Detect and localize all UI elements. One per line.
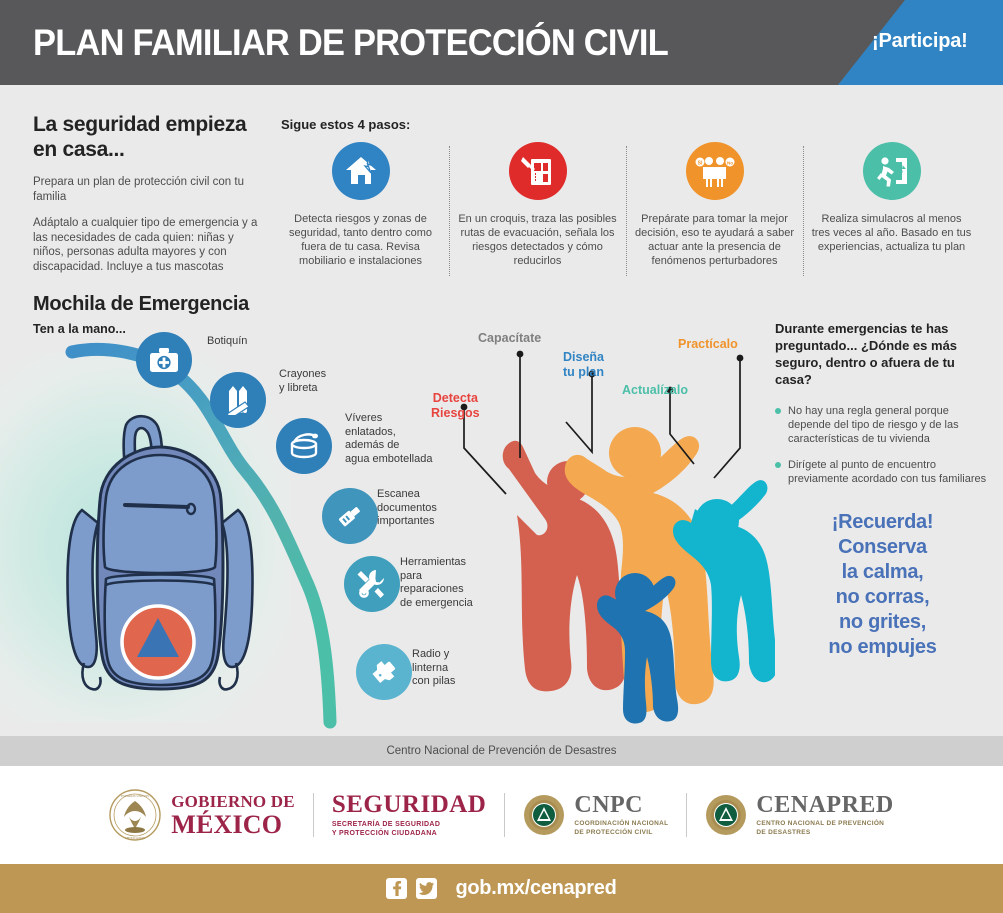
floorplan-pencil-icon	[509, 142, 567, 200]
intro-block: La seguridad empieza en casa... Prepara …	[33, 112, 265, 274]
header-banner: PLAN FAMILIAR DE PROTECCIÓN CIVIL ¡Parti…	[0, 0, 1003, 85]
emergency-bullet-1: No hay una regla general porque depende …	[775, 404, 990, 446]
twitter-icon[interactable]	[416, 878, 437, 899]
seguridad-logo: SEGURIDAD SECRETARÍA DE SEGURIDAD Y PROT…	[314, 786, 505, 844]
cenapred-logo: CENAPRED CENTRO NACIONAL DE PREVENCIÓN D…	[687, 786, 911, 844]
emergency-question-title: Durante emergencias te has preguntado...…	[775, 320, 990, 388]
step-3-text: Prepárate para tomar la mejor decisión, …	[635, 212, 795, 268]
svg-text:MEXICANOS: MEXICANOS	[125, 836, 145, 840]
cenapred-subtitle-1: CENTRO NACIONAL DE PREVENCIÓN	[756, 820, 893, 829]
seguridad-title: SEGURIDAD	[332, 792, 487, 818]
intro-title: La seguridad empieza en casa...	[33, 112, 265, 162]
step-4: Realiza simulacros al menos tres veces a…	[803, 142, 980, 287]
canned-food-icon	[276, 418, 332, 474]
step-1: Detecta riesgos y zonas de seguridad, ta…	[272, 142, 449, 287]
steps-section-title: Sigue estos 4 pasos:	[281, 117, 410, 132]
seguridad-subtitle-2: Y PROTECCIÓN CIUDADANA	[332, 829, 487, 838]
mochila-item-label-1: Botiquín	[207, 335, 247, 349]
crayons-notebook-icon	[210, 372, 266, 428]
facebook-icon[interactable]	[386, 878, 407, 899]
callout-disena-tu-plan: Diseña tu plan	[563, 350, 604, 380]
emergency-bullet-2: Dirígete al punto de encuentro previamen…	[775, 458, 990, 486]
cenapred-emblem-icon	[705, 794, 747, 836]
svg-text:SI: SI	[697, 161, 702, 167]
seguridad-subtitle-1: SECRETARÍA DE SEGURIDAD	[332, 820, 487, 829]
gobierno-line-1: GOBIERNO DE	[171, 793, 295, 811]
infographic-page: PLAN FAMILIAR DE PROTECCIÓN CIVIL ¡Parti…	[0, 0, 1003, 913]
svg-text:ESTADOS UNIDOS: ESTADOS UNIDOS	[121, 794, 149, 798]
flashlight-icon	[356, 644, 412, 700]
tools-icon	[344, 556, 400, 612]
step-3: SI No Prepárate para tomar la mejor deci…	[626, 142, 803, 287]
intro-paragraph-2: Adáptalo a cualquier tipo de emergencia …	[33, 216, 265, 274]
footer-logos: ESTADOS UNIDOS MEXICANOS GOBIERNO DE MÉX…	[0, 766, 1003, 864]
gobierno-line-2: MÉXICO	[171, 811, 295, 838]
mochila-title: Mochila de Emergencia	[33, 293, 249, 316]
step-4-text: Realiza simulacros al menos tres veces a…	[812, 212, 972, 254]
page-title: PLAN FAMILIAR DE PROTECCIÓN CIVIL	[33, 20, 768, 66]
mexico-seal-icon: ESTADOS UNIDOS MEXICANOS	[109, 789, 161, 841]
gobierno-de-mexico-logo: ESTADOS UNIDOS MEXICANOS GOBIERNO DE MÉX…	[91, 786, 313, 844]
cnpc-title: CNPC	[574, 793, 668, 818]
svg-text:No: No	[726, 161, 732, 166]
right-column: Durante emergencias te has preguntado...…	[775, 320, 990, 660]
gob-url-label[interactable]: gob.mx/cenapred	[455, 877, 616, 900]
callout-practicalo: Practícalo	[678, 337, 738, 352]
cenapred-band: Centro Nacional de Prevención de Desastr…	[0, 736, 1003, 766]
running-exit-icon	[863, 142, 921, 200]
cnpc-subtitle-1: COORDINACIÓN NACIONAL	[574, 820, 668, 829]
mochila-item-label-2: Crayones y libreta	[279, 368, 326, 395]
callout-detecta-riesgos: Detecta Riesgos	[431, 391, 480, 421]
participa-label: ¡Participa!	[872, 30, 992, 53]
first-aid-kit-icon	[136, 332, 192, 388]
usb-drive-icon	[322, 488, 378, 544]
recuerda-block: ¡Recuerda! Conserva la calma, no corras,…	[775, 510, 990, 660]
cenapred-band-text: Centro Nacional de Prevención de Desastr…	[0, 736, 1003, 766]
callout-actualizalo: Actualízalo	[622, 383, 688, 398]
steps-list: Detecta riesgos y zonas de seguridad, ta…	[272, 142, 982, 287]
cenapred-title: CENAPRED	[756, 793, 893, 818]
cnpc-logo: CNPC COORDINACIÓN NACIONAL DE PROTECCIÓN…	[505, 786, 686, 844]
cnpc-subtitle-2: DE PROTECCIÓN CIVIL	[574, 829, 668, 838]
step-2-text: En un croquis, traza las posibles rutas …	[458, 212, 618, 268]
step-2: En un croquis, traza las posibles rutas …	[449, 142, 626, 287]
house-crack-icon	[332, 142, 390, 200]
people-decision-icon: SI No	[686, 142, 744, 200]
emergency-bullets: No hay una regla general porque depende …	[775, 404, 990, 486]
social-bar: gob.mx/cenapred	[0, 864, 1003, 913]
intro-paragraph-1: Prepara un plan de protección civil con …	[33, 175, 265, 204]
cnpc-emblem-icon	[523, 794, 565, 836]
family-callouts: Detecta Riesgos Capacítate Diseña tu pla…	[420, 325, 770, 725]
step-1-text: Detecta riesgos y zonas de seguridad, ta…	[281, 212, 441, 268]
callout-capacitate: Capacítate	[478, 331, 541, 346]
cenapred-subtitle-2: DE DESASTRES	[756, 829, 893, 838]
